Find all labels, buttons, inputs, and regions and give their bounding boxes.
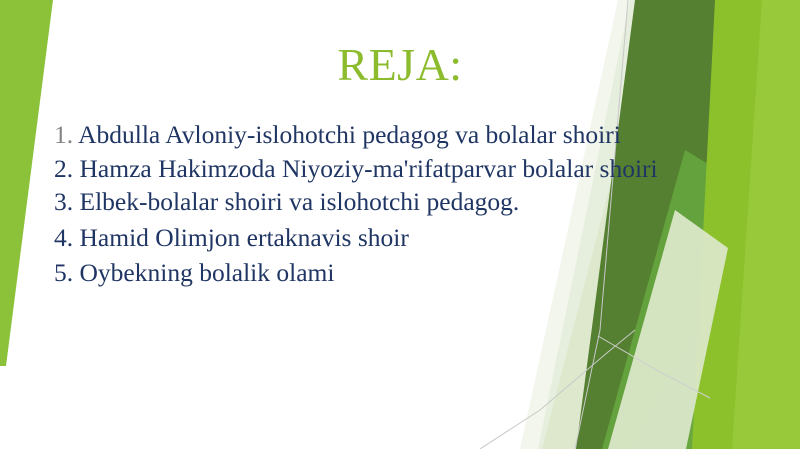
slide-canvas: REJA: 1. Abdulla Avloniy-islohotchi peda… <box>0 0 800 449</box>
mid-green-shape-2 <box>630 300 800 449</box>
agenda-item-2: 2. Hamza Hakimzoda Niyoziy-ma'rifatparva… <box>54 154 679 184</box>
hairline-2 <box>480 330 635 449</box>
agenda-item-3-text: Elbek-bolalar shoiri va islohotchi pedag… <box>80 187 520 216</box>
agenda-item-4-marker: 4. <box>54 223 73 252</box>
agenda-item-1-text: Abdulla Avloniy-islohotchi pedagog va bo… <box>78 120 621 149</box>
agenda-item-1: 1. Abdulla Avloniy-islohotchi pedagog va… <box>54 120 679 150</box>
agenda-item-3: 3. Elbek-bolalar shoiri va islohotchi pe… <box>54 187 714 217</box>
agenda-item-5: 5. Oybekning bolalik olami <box>54 258 714 288</box>
agenda-item-2-marker: 2. <box>54 154 73 183</box>
agenda-item-4-text: Hamid Olimjon ertaknavis shoir <box>80 223 409 252</box>
agenda-item-2-text: Hamza Hakimzoda Niyoziy-ma'rifatparvar b… <box>80 154 658 183</box>
agenda-item-5-text: Oybekning bolalik olami <box>80 258 335 287</box>
slide-title: REJA: <box>0 42 800 88</box>
agenda-item-3-marker: 3. <box>54 187 73 216</box>
agenda-item-1-marker: 1. <box>54 120 73 149</box>
agenda-item-5-marker: 5. <box>54 258 73 287</box>
agenda-item-4: 4. Hamid Olimjon ertaknavis shoir <box>54 223 714 253</box>
agenda-list: 1. Abdulla Avloniy-islohotchi pedagog va… <box>54 120 714 294</box>
hairline-3 <box>598 336 710 398</box>
